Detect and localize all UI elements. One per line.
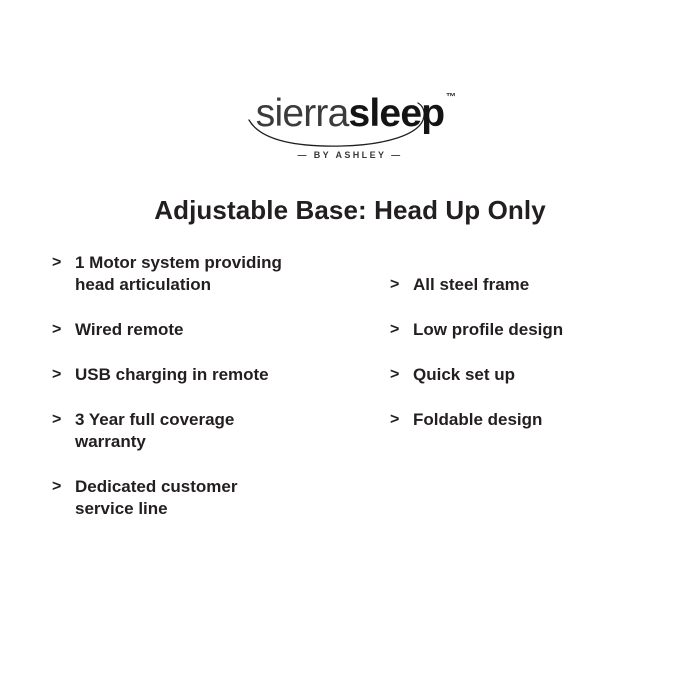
logo-word-sleep: sleep xyxy=(349,92,445,135)
list-item: > Dedicated customer service line xyxy=(52,476,352,520)
chevron-right-icon: > xyxy=(390,409,413,431)
product-feature-card: sierrasleep™ — BY ASHLEY — Adjustable Ba… xyxy=(0,0,700,700)
list-item-label: Foldable design xyxy=(413,409,670,431)
feature-column-left: > 1 Motor system providing head articula… xyxy=(52,252,352,520)
list-item: > Low profile design xyxy=(390,319,670,341)
chevron-right-icon: > xyxy=(52,476,75,498)
list-item-label: Wired remote xyxy=(75,319,352,341)
chevron-right-icon: > xyxy=(52,319,75,341)
list-item: > All steel frame xyxy=(390,274,670,296)
list-item-label: Quick set up xyxy=(413,364,670,386)
list-item-label: 3 Year full coverage warranty xyxy=(75,409,352,453)
list-item: > Wired remote xyxy=(52,319,352,341)
list-item: > Quick set up xyxy=(390,364,670,386)
feature-list: > 1 Motor system providing head articula… xyxy=(0,252,700,552)
chevron-right-icon: > xyxy=(52,252,75,274)
logo-wordmark: sierrasleep™ xyxy=(256,92,444,136)
chevron-right-icon: > xyxy=(390,364,413,386)
logo-word-sierra: sierra xyxy=(256,92,349,135)
chevron-right-icon: > xyxy=(390,274,413,296)
list-item-label: USB charging in remote xyxy=(75,364,352,386)
list-item: > 1 Motor system providing head articula… xyxy=(52,252,352,296)
brand-logo: sierrasleep™ — BY ASHLEY — xyxy=(0,92,700,160)
list-item: > 3 Year full coverage warranty xyxy=(52,409,352,453)
list-item-label: Dedicated customer service line xyxy=(75,476,352,520)
chevron-right-icon: > xyxy=(52,409,75,431)
chevron-right-icon: > xyxy=(52,364,75,386)
list-item-label: All steel frame xyxy=(413,274,670,296)
feature-column-right: > All steel frame > Low profile design >… xyxy=(390,252,670,431)
trademark-icon: ™ xyxy=(446,93,455,103)
logo-mark: sierrasleep™ xyxy=(256,92,444,142)
chevron-right-icon: > xyxy=(390,319,413,341)
brand-tagline: — BY ASHLEY — xyxy=(0,150,700,160)
list-item: > USB charging in remote xyxy=(52,364,352,386)
list-item: > Foldable design xyxy=(390,409,670,431)
page-title: Adjustable Base: Head Up Only xyxy=(0,194,700,226)
list-item-label: 1 Motor system providing head articulati… xyxy=(75,252,352,296)
list-item-label: Low profile design xyxy=(413,319,670,341)
